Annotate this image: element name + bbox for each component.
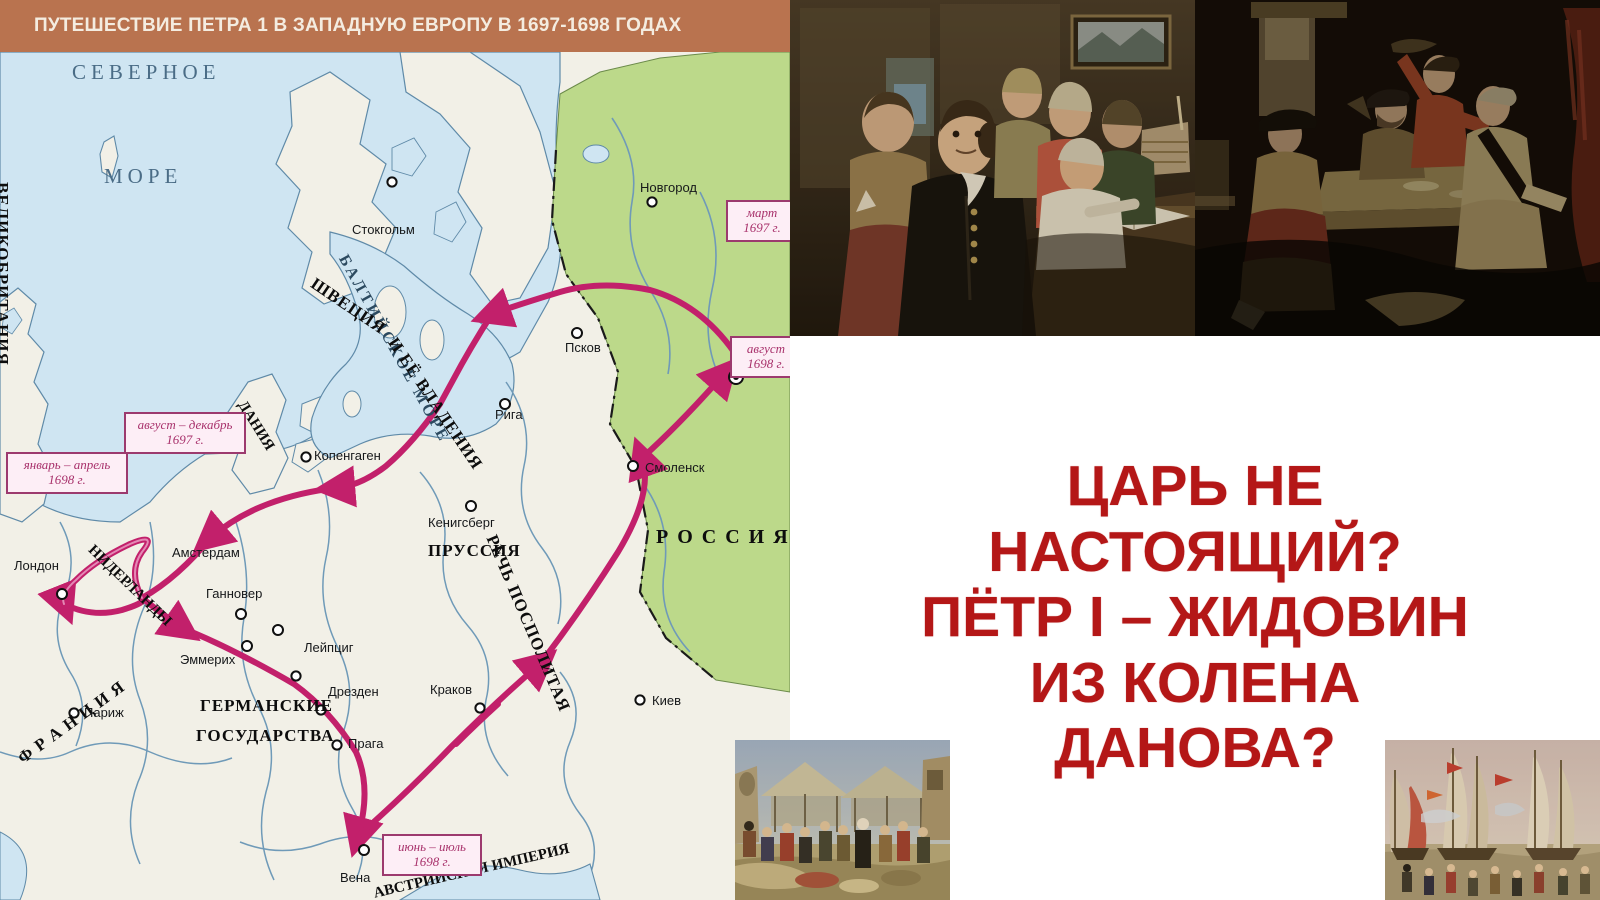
date-line2: 1698 г. (15, 473, 119, 488)
date-line2: 1698 г. (739, 357, 790, 372)
map-title: ПУТЕШЕСТВИЕ ПЕТРА 1 В ЗАПАДНУЮ ЕВРОПУ В … (34, 15, 681, 37)
slogan-line-1: ЦАРЬ НЕ (1067, 456, 1324, 518)
date-box-moscow-return: август 1698 г. (730, 336, 790, 378)
date-line1: январь – апрель (15, 458, 119, 473)
date-box-vienna: июнь – июль 1698 г. (382, 834, 482, 876)
photo-harbour-ships-scene-graphic (1385, 740, 1600, 900)
date-box-moscow-start: март 1697 г. (726, 200, 790, 242)
photo-tavern-scene-graphic (1195, 0, 1600, 336)
photo-harbour-ships-scene (1385, 740, 1600, 900)
date-line2: 1697 г. (735, 221, 789, 236)
slogan-line-2: НАСТОЯЩИЙ? (988, 522, 1401, 584)
photo-peter-with-shipwrights-graphic (790, 0, 1195, 336)
slogan-line-4: ИЗ КОЛЕНА (1030, 653, 1361, 715)
date-line1: март (735, 206, 789, 221)
date-line1: июнь – июль (391, 840, 473, 855)
slogan-line-3: ПЁТР I – ЖИДОВИН (921, 587, 1469, 649)
map-title-bar: ПУТЕШЕСТВИЕ ПЕТРА 1 В ЗАПАДНУЮ ЕВРОПУ В … (0, 0, 790, 52)
photo-fair-market-scene (735, 740, 950, 900)
date-line1: август (739, 342, 790, 357)
date-box-england: январь – апрель 1698 г. (6, 452, 128, 494)
date-line2: 1697 г. (133, 433, 237, 448)
slide-root: ПУТЕШЕСТВИЕ ПЕТРА 1 В ЗАПАДНУЮ ЕВРОПУ В … (0, 0, 1600, 900)
date-box-holland: август – декабрь 1697 г. (124, 412, 246, 454)
map-canvas: СЕВЕРНОЕ МОРЕ БАЛТИЙСКОЕ МОРЕ ВЕЛИКОБРИТ… (0, 52, 790, 900)
slogan-line-5: ДАНОВА? (1054, 718, 1336, 780)
photo-tavern-scene (1195, 0, 1600, 336)
date-line2: 1698 г. (391, 855, 473, 870)
photo-peter-with-shipwrights (790, 0, 1195, 336)
map-panel: ПУТЕШЕСТВИЕ ПЕТРА 1 В ЗАПАДНУЮ ЕВРОПУ В … (0, 0, 790, 900)
date-line1: август – декабрь (133, 418, 237, 433)
photo-fair-market-scene-graphic (735, 740, 950, 900)
